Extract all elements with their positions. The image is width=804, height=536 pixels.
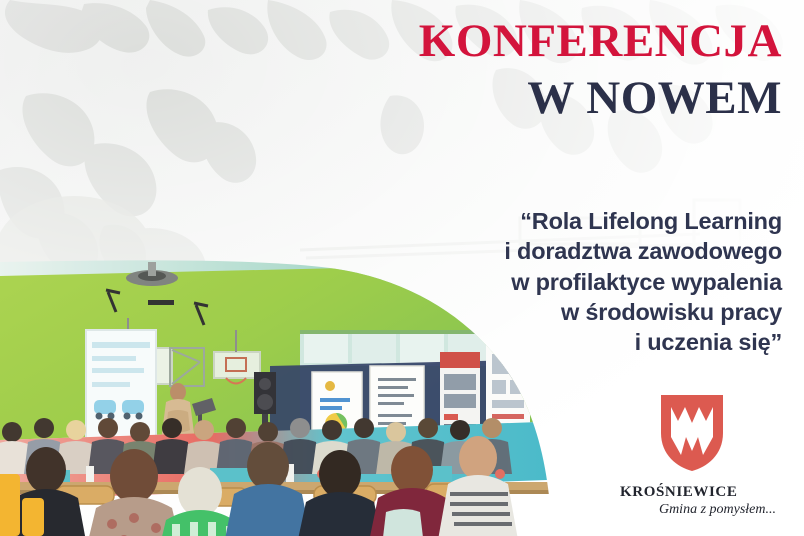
page-title: KONFERENCJA W NOWEM xyxy=(362,18,782,122)
quote-line-4: w środowisku pracy xyxy=(352,297,782,327)
quote-line-3: w profilaktyce wypalenia xyxy=(352,267,782,297)
title-line-2: W NOWEM xyxy=(362,75,782,122)
conference-theme-quote: “Rola Lifelong Learning i doradztwa zawo… xyxy=(352,206,782,358)
title-line-1: KONFERENCJA xyxy=(362,18,782,65)
quote-line-2: i doradztwa zawodowego xyxy=(352,236,782,266)
municipality-logo: KROŚNIEWICE Gmina z pomysłem... xyxy=(602,393,782,518)
coat-of-arms-icon xyxy=(602,393,782,478)
quote-line-1: “Rola Lifelong Learning xyxy=(352,206,782,236)
quote-line-5: i uczenia się” xyxy=(352,327,782,357)
conference-poster: KONFERENCJA W NOWEM “Rola Lifelong Learn… xyxy=(0,0,804,536)
municipality-motto: Gmina z pomysłem... xyxy=(602,502,782,518)
municipality-name: KROŚNIEWICE xyxy=(602,484,782,501)
